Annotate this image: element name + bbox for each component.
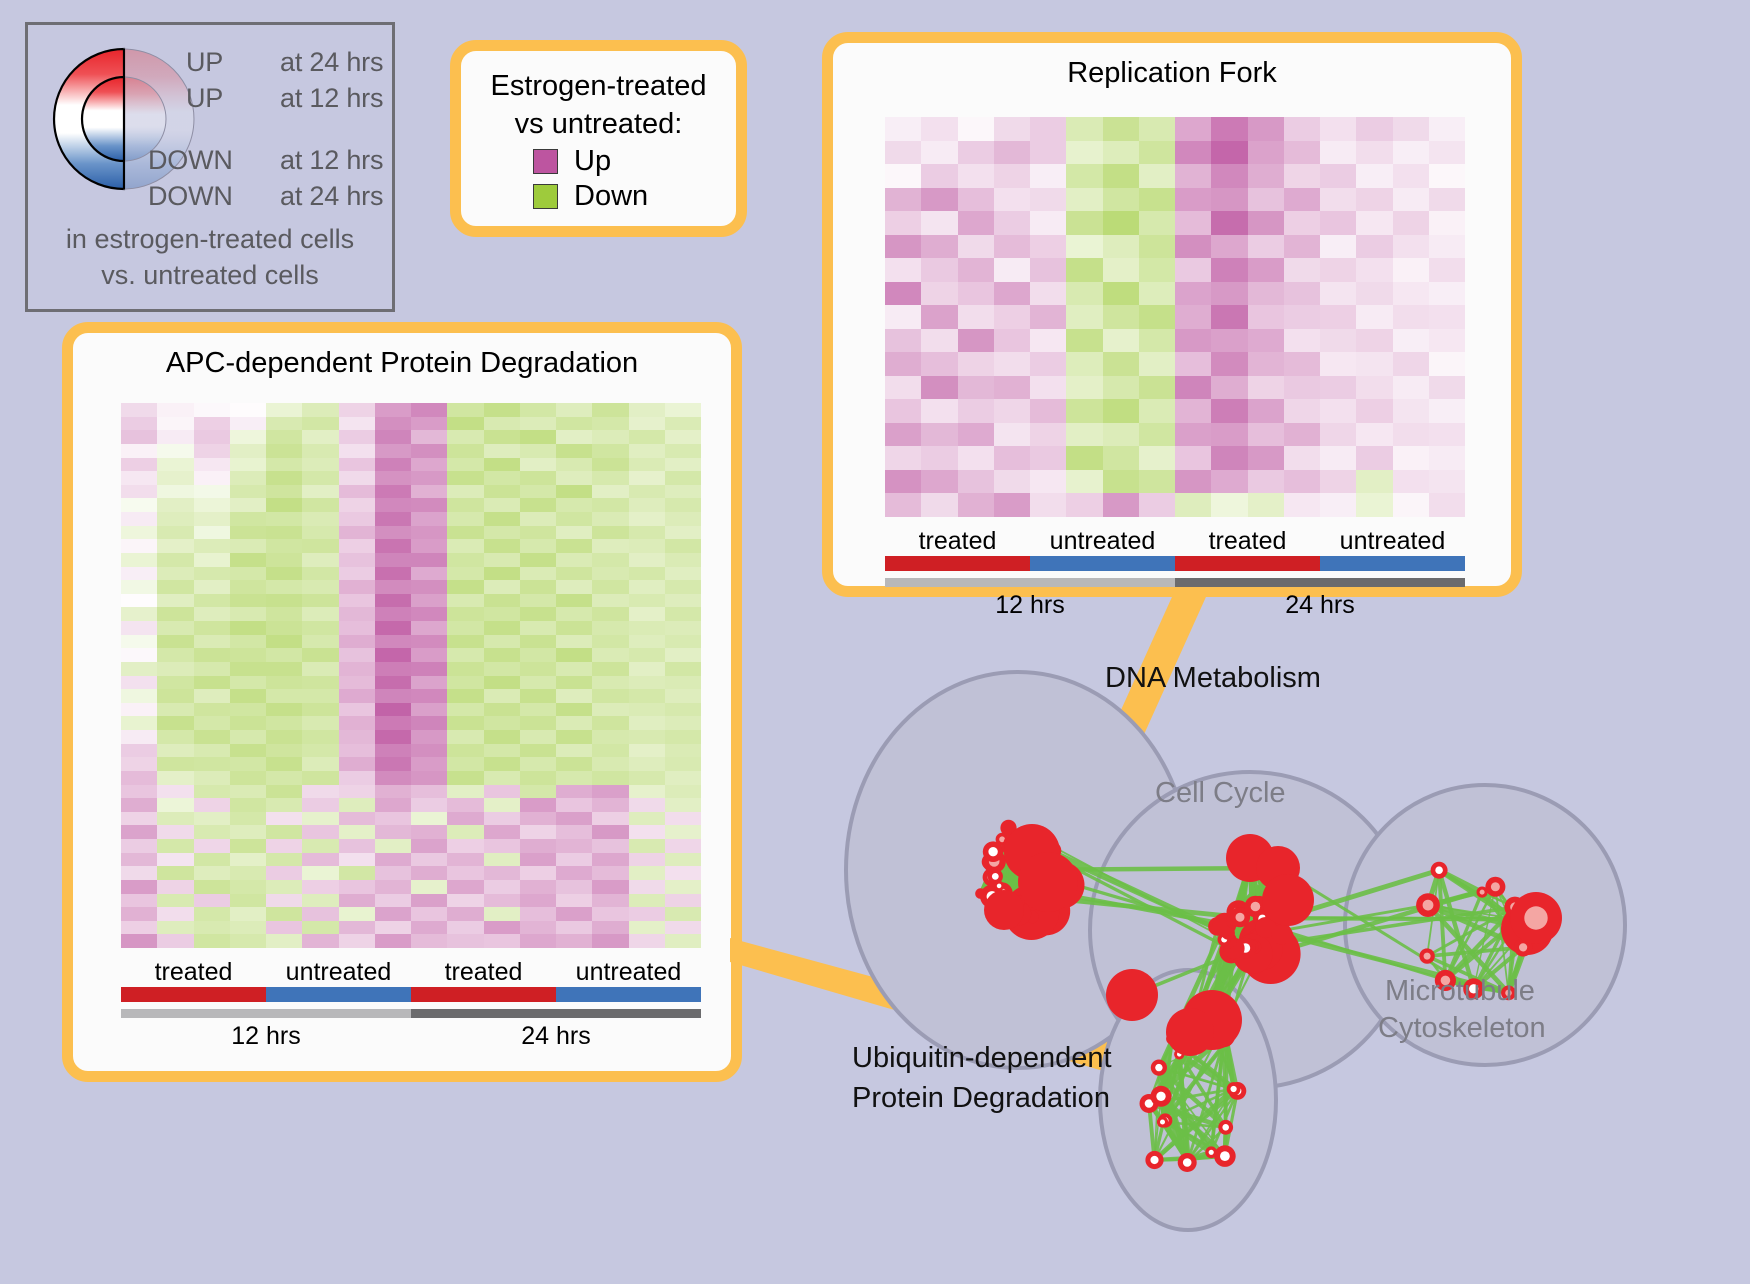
heatmap-cell xyxy=(447,526,483,540)
heatmap-cell xyxy=(520,853,556,867)
heatmap-cell xyxy=(994,493,1030,517)
heatmap-cell xyxy=(157,853,193,867)
heatmap-cell xyxy=(411,839,447,853)
heatmap-cell xyxy=(121,635,157,649)
heatmap-cell xyxy=(302,594,338,608)
heatmap-cell xyxy=(592,703,628,717)
heatmap-cell xyxy=(1175,446,1211,470)
heatmap-cell xyxy=(484,866,520,880)
heatmap-cell xyxy=(1429,211,1465,235)
heatmap-cell xyxy=(484,894,520,908)
heatmap-cell xyxy=(447,921,483,935)
heatmap-cell xyxy=(230,471,266,485)
cluster-label-ubiquitin: Ubiquitin-dependent xyxy=(852,1042,1112,1075)
heatmap-cell xyxy=(629,485,665,499)
heatmap-cell xyxy=(194,676,230,690)
heatmap-cell xyxy=(484,785,520,799)
heatmap-cell xyxy=(885,164,921,188)
heatmap-cell xyxy=(958,446,994,470)
heatmap-cell xyxy=(665,580,701,594)
heatmap-cell xyxy=(556,934,592,948)
heatmap-cell xyxy=(157,539,193,553)
heatmap-cell xyxy=(520,785,556,799)
heatmap-cell xyxy=(266,730,302,744)
heatmap-cell xyxy=(629,921,665,935)
network-node-core xyxy=(1220,1151,1230,1161)
heatmap-cell xyxy=(1320,258,1356,282)
heatmap-cell xyxy=(266,703,302,717)
heatmap-cell xyxy=(1284,141,1320,165)
heatmap-cell xyxy=(484,403,520,417)
heatmap-cell xyxy=(194,594,230,608)
heatmap-cell xyxy=(375,553,411,567)
heatmap-cell xyxy=(266,485,302,499)
heatmap-cell xyxy=(1284,423,1320,447)
heatmap-cell xyxy=(629,512,665,526)
heatmap-cell xyxy=(230,526,266,540)
heatmap-cell xyxy=(958,329,994,353)
heatmap-cell xyxy=(230,812,266,826)
heatmap-cell xyxy=(375,526,411,540)
heatmap-cell xyxy=(194,485,230,499)
treatment-label-row: treateduntreatedtreateduntreated xyxy=(885,527,1465,556)
heatmap-cell xyxy=(592,635,628,649)
heatmap-cell xyxy=(302,662,338,676)
wheel-row-2-direction: DOWN xyxy=(148,145,233,176)
heatmap-cell xyxy=(447,580,483,594)
heatmap-cell xyxy=(1248,399,1284,423)
heatmap-cell xyxy=(1429,188,1465,212)
heatmap-cell xyxy=(266,853,302,867)
heatmap-cell xyxy=(121,894,157,908)
treatment-color-bar xyxy=(121,987,701,1002)
heatmap-cell xyxy=(302,894,338,908)
heatmap-cell xyxy=(194,539,230,553)
heatmap-cell xyxy=(1139,305,1175,329)
heatmap-cell xyxy=(629,648,665,662)
heatmap-cell xyxy=(629,594,665,608)
heatmap-cell xyxy=(1356,117,1392,141)
heatmap-cell xyxy=(1284,282,1320,306)
heatmap-cell xyxy=(1030,188,1066,212)
heatmap-cell xyxy=(629,444,665,458)
heatmap-cell xyxy=(339,621,375,635)
timepoint-label: 12 hrs xyxy=(121,1022,411,1051)
wheel-row-3-time: at 24 hrs xyxy=(280,181,383,212)
heatmap-cell xyxy=(1139,141,1175,165)
heatmap-cell xyxy=(411,417,447,431)
heatmap-cell xyxy=(556,567,592,581)
heatmap-cell xyxy=(121,866,157,880)
wheel-row-3-direction: DOWN xyxy=(148,181,233,212)
heatmap-cell xyxy=(1030,235,1066,259)
heatmap-cell xyxy=(520,703,556,717)
heatmap-cell xyxy=(121,553,157,567)
heatmap-cell xyxy=(1139,282,1175,306)
heatmap-cell xyxy=(484,839,520,853)
heatmap-cell xyxy=(520,894,556,908)
heatmap-cell xyxy=(1211,141,1247,165)
heatmap-cell xyxy=(1139,258,1175,282)
heatmap-cell xyxy=(230,703,266,717)
heatmap-cell xyxy=(411,580,447,594)
heatmap-cell xyxy=(592,458,628,472)
heatmap-cell xyxy=(1103,423,1139,447)
heatmap-cell xyxy=(157,866,193,880)
heatmap-cell xyxy=(1066,117,1102,141)
heatmap-cell xyxy=(629,621,665,635)
heatmap-cell xyxy=(1356,258,1392,282)
heatmap-cell xyxy=(157,471,193,485)
heatmap-cell xyxy=(629,553,665,567)
heatmap-cell xyxy=(484,621,520,635)
treatment-label: treated xyxy=(121,958,266,987)
heatmap-cell xyxy=(1248,211,1284,235)
heatmap-cell xyxy=(230,648,266,662)
cluster-label-protein-degradation: Protein Degradation xyxy=(852,1082,1110,1115)
heatmap-cell xyxy=(194,430,230,444)
heatmap-cell xyxy=(665,771,701,785)
heatmap-cell xyxy=(1103,188,1139,212)
heatmap-cell xyxy=(121,580,157,594)
heatmap-cell xyxy=(592,607,628,621)
heatmap-cell xyxy=(1139,470,1175,494)
heatmap-cell xyxy=(665,662,701,676)
heatmap-cell xyxy=(556,539,592,553)
heatmap-cell xyxy=(266,526,302,540)
heatmap-cell xyxy=(266,417,302,431)
heatmap-cell xyxy=(157,689,193,703)
heatmap-cell xyxy=(121,526,157,540)
heatmap-cell xyxy=(885,305,921,329)
heatmap-cell xyxy=(1284,211,1320,235)
heatmap-cell xyxy=(302,757,338,771)
heatmap-cell xyxy=(339,825,375,839)
heatmap-cell xyxy=(157,512,193,526)
heatmap-cell xyxy=(157,648,193,662)
heatmap-cell xyxy=(629,771,665,785)
heatmap-cell xyxy=(556,798,592,812)
network-diagram: DNA Metabolism Cell Cycle Microtubule Cy… xyxy=(780,600,1750,1279)
heatmap-cell xyxy=(994,446,1030,470)
heatmap-cell xyxy=(629,744,665,758)
heatmap-cell xyxy=(411,607,447,621)
heatmap-cell xyxy=(1320,493,1356,517)
heatmap-cell xyxy=(194,635,230,649)
treatment-label: treated xyxy=(885,527,1030,556)
heatmap-cell xyxy=(1103,305,1139,329)
heatmap-cell xyxy=(484,498,520,512)
heatmap-cell xyxy=(375,567,411,581)
heatmap-cell xyxy=(921,235,957,259)
heatmap-cell xyxy=(921,305,957,329)
heatmap-cell xyxy=(339,853,375,867)
heatmap-cell xyxy=(230,621,266,635)
heatmap-cell xyxy=(885,235,921,259)
heatmap-cell xyxy=(520,648,556,662)
heatmap-cell xyxy=(230,430,266,444)
heatmap-cell xyxy=(1429,117,1465,141)
heatmap-cell xyxy=(958,352,994,376)
heatmap-cell xyxy=(1393,258,1429,282)
heatmap-cell xyxy=(629,853,665,867)
heatmap-cell xyxy=(665,676,701,690)
heatmap-cell xyxy=(629,539,665,553)
heatmap-cell xyxy=(921,470,957,494)
heatmap-cell xyxy=(1429,399,1465,423)
heatmap-cell xyxy=(665,880,701,894)
heatmap-cell xyxy=(339,458,375,472)
heatmap-cell xyxy=(375,689,411,703)
heatmap-cell xyxy=(994,235,1030,259)
network-node-core xyxy=(1435,866,1443,874)
heatmap-cell xyxy=(665,512,701,526)
heatmap-cell xyxy=(921,117,957,141)
heatmap-cell xyxy=(1284,305,1320,329)
heatmap-cell xyxy=(592,866,628,880)
heatmap-cell xyxy=(194,744,230,758)
heatmap-cell xyxy=(1211,282,1247,306)
heatmap-cell xyxy=(1248,493,1284,517)
heatmap-cell xyxy=(484,607,520,621)
treatment-color-segment xyxy=(1175,556,1320,571)
heatmap-cell xyxy=(1175,376,1211,400)
heatmap-cell xyxy=(339,607,375,621)
heatmap-cell xyxy=(958,141,994,165)
heatmap-cell xyxy=(1139,117,1175,141)
heatmap-cell xyxy=(1139,399,1175,423)
heatmap-cell xyxy=(375,744,411,758)
heatmap-cell xyxy=(994,164,1030,188)
heatmap-cell xyxy=(1066,493,1102,517)
heatmap-cell xyxy=(230,907,266,921)
heatmap-cell xyxy=(339,785,375,799)
heatmap-cell xyxy=(520,580,556,594)
heatmap-cell xyxy=(520,730,556,744)
heatmap-cell xyxy=(447,539,483,553)
heatmap-cell xyxy=(1175,282,1211,306)
heatmap-cell xyxy=(1429,470,1465,494)
heatmap-cell xyxy=(665,635,701,649)
heatmap-cell xyxy=(121,444,157,458)
heatmap-cell xyxy=(411,785,447,799)
heatmap-cell xyxy=(556,485,592,499)
heatmap-cell xyxy=(1248,188,1284,212)
heatmap-cell xyxy=(592,894,628,908)
heatmap-cell xyxy=(520,539,556,553)
heatmap-cell xyxy=(1103,376,1139,400)
heatmap-cell xyxy=(447,485,483,499)
heatmap-cell xyxy=(629,907,665,921)
heatmap-cell xyxy=(447,730,483,744)
heatmap-cell xyxy=(885,211,921,235)
heatmap-cell xyxy=(484,880,520,894)
heatmap-cell xyxy=(447,798,483,812)
heatmap-cell xyxy=(447,444,483,458)
heatmap-cell xyxy=(592,757,628,771)
heatmap-cell xyxy=(230,716,266,730)
heatmap-cell xyxy=(1211,329,1247,353)
network-node xyxy=(975,888,986,899)
heatmap-cell xyxy=(339,594,375,608)
heatmap-cell xyxy=(1139,446,1175,470)
heatmap-cell xyxy=(885,117,921,141)
heatmap-cell xyxy=(1175,423,1211,447)
heatmap-cell xyxy=(629,662,665,676)
heatmap-cell xyxy=(1030,282,1066,306)
heatmap-cell xyxy=(1356,305,1392,329)
heatmap-cell xyxy=(665,498,701,512)
heatmap-cell xyxy=(556,825,592,839)
heatmap-cell xyxy=(411,553,447,567)
heatmap-cell xyxy=(121,485,157,499)
heatmap-cell xyxy=(1320,329,1356,353)
heatmap-cell xyxy=(1030,141,1066,165)
timepoint-label: 24 hrs xyxy=(411,1022,701,1051)
heatmap-cell xyxy=(157,662,193,676)
legend-item-down-label: Down xyxy=(574,180,648,213)
heatmap-cell xyxy=(411,703,447,717)
heatmap-cell xyxy=(194,785,230,799)
heatmap-cell xyxy=(629,498,665,512)
heatmap-cell xyxy=(994,470,1030,494)
heatmap-cell xyxy=(447,853,483,867)
heatmap-cell xyxy=(411,825,447,839)
network-node-core xyxy=(1156,1092,1165,1101)
heatmap-cell xyxy=(1066,470,1102,494)
heatmap-cell xyxy=(375,485,411,499)
heatmap-cell xyxy=(302,785,338,799)
heatmap-cell xyxy=(1429,493,1465,517)
heatmap-cell xyxy=(556,526,592,540)
heatmap-cell xyxy=(520,567,556,581)
heatmap-cell xyxy=(665,553,701,567)
heatmap-cell xyxy=(339,417,375,431)
heatmap-cell xyxy=(121,907,157,921)
heatmap-cell xyxy=(1139,493,1175,517)
heatmap-cell xyxy=(194,934,230,948)
heatmap-cell xyxy=(302,907,338,921)
heatmap-cell xyxy=(556,417,592,431)
heatmap-cell xyxy=(302,607,338,621)
heatmap-cell xyxy=(266,635,302,649)
heatmap-cell xyxy=(375,703,411,717)
heatmap-cell xyxy=(1320,446,1356,470)
heatmap-cell xyxy=(556,880,592,894)
heatmap-cell xyxy=(1175,399,1211,423)
heatmap-cell xyxy=(411,757,447,771)
heatmap-cell xyxy=(230,635,266,649)
network-node-core xyxy=(1524,906,1547,929)
heatmap-cell xyxy=(230,853,266,867)
heatmap-cell xyxy=(665,744,701,758)
heatmap-cell xyxy=(885,352,921,376)
heatmap-cell xyxy=(1429,164,1465,188)
heatmap-cell xyxy=(1030,164,1066,188)
heatmap-cell xyxy=(230,607,266,621)
heatmap-cell xyxy=(1393,399,1429,423)
heatmap-cell xyxy=(157,567,193,581)
heatmap-cell xyxy=(592,567,628,581)
heatmap-cell xyxy=(266,648,302,662)
heatmap-cell xyxy=(1248,164,1284,188)
heatmap-cell xyxy=(266,839,302,853)
heatmap-cell xyxy=(194,730,230,744)
heatmap-cell xyxy=(665,403,701,417)
heatmap-cell xyxy=(121,648,157,662)
treatment-color-bar xyxy=(885,556,1465,571)
heatmap-cell xyxy=(1211,399,1247,423)
heatmap-cell xyxy=(121,512,157,526)
heatmap-cell xyxy=(1393,352,1429,376)
heatmap-cell xyxy=(484,757,520,771)
heatmap-cell xyxy=(121,880,157,894)
heatmap-cell xyxy=(592,539,628,553)
heatmap-cell xyxy=(375,662,411,676)
heatmap-cell xyxy=(121,594,157,608)
heatmap-cell xyxy=(194,567,230,581)
heatmap-cell xyxy=(665,730,701,744)
colorwheel-footer-line-2: vs. untreated cells xyxy=(28,257,392,293)
heatmap-cell xyxy=(1356,329,1392,353)
heatmap-cell xyxy=(339,580,375,594)
heatmap-cell xyxy=(484,485,520,499)
heatmap-cell xyxy=(556,662,592,676)
heatmap-cell xyxy=(157,635,193,649)
treatment-color-segment xyxy=(556,987,701,1002)
heatmap-cell xyxy=(629,580,665,594)
heatmap-cell xyxy=(302,471,338,485)
heatmap-cell xyxy=(1211,258,1247,282)
heatmap-cell xyxy=(121,744,157,758)
heatmap-cell xyxy=(1356,399,1392,423)
heatmap-cell xyxy=(1393,376,1429,400)
network-node-core xyxy=(1183,1158,1192,1167)
heatmap-cell xyxy=(1248,117,1284,141)
heatmap-cell xyxy=(1103,117,1139,141)
network-node-core xyxy=(988,847,997,856)
heatmap-cell xyxy=(1393,282,1429,306)
heatmap-cell xyxy=(121,567,157,581)
heatmap-cell xyxy=(375,907,411,921)
heatmap-cell xyxy=(556,458,592,472)
heatmap-cell xyxy=(157,417,193,431)
heatmap-cell xyxy=(921,399,957,423)
heatmap-cell xyxy=(629,825,665,839)
heatmap-cell xyxy=(1393,188,1429,212)
heatmap-cell xyxy=(266,621,302,635)
heatmap-cell xyxy=(339,676,375,690)
treatment-color-segment xyxy=(266,987,411,1002)
heatmap-cell xyxy=(375,866,411,880)
wheel-row-1-direction: UP xyxy=(186,83,223,114)
heatmap-cell xyxy=(194,839,230,853)
heatmap-cell xyxy=(665,444,701,458)
heatmap-cell xyxy=(266,812,302,826)
heatmap-cell xyxy=(302,771,338,785)
heatmap-cell xyxy=(230,866,266,880)
heatmap-cell xyxy=(665,812,701,826)
heatmap-cell xyxy=(556,894,592,908)
network-node-core xyxy=(1424,953,1431,960)
heatmap-cell xyxy=(592,689,628,703)
heatmap-cell xyxy=(1103,399,1139,423)
heatmap-cell xyxy=(592,907,628,921)
heatmap-cell xyxy=(994,188,1030,212)
heatmap-cell xyxy=(266,403,302,417)
network-graph xyxy=(780,600,1750,1279)
heatmap-cell xyxy=(375,635,411,649)
